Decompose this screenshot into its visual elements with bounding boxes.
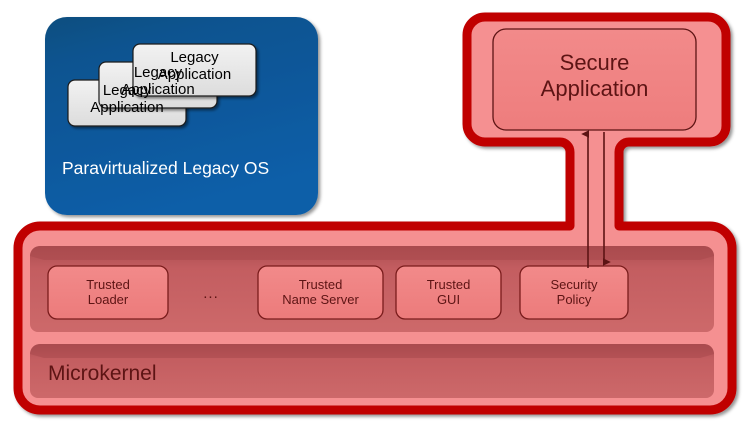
microkernel-band-bevel — [30, 344, 714, 358]
service-box-trusted-loader[interactable] — [48, 266, 168, 319]
service-box-trusted-gui[interactable] — [396, 266, 501, 319]
service-box-security-policy[interactable] — [520, 266, 628, 319]
legacy-app-card-front[interactable] — [133, 44, 256, 96]
service-box-trusted-name-server[interactable] — [258, 266, 383, 319]
architecture-diagram: LegacyApplication LegacyApplication Lega… — [0, 0, 750, 426]
secure-application-box[interactable] — [493, 29, 696, 130]
service-boxes-group — [48, 266, 628, 319]
diagram-shapes-layer — [0, 0, 750, 426]
services-band-bevel — [30, 246, 714, 260]
